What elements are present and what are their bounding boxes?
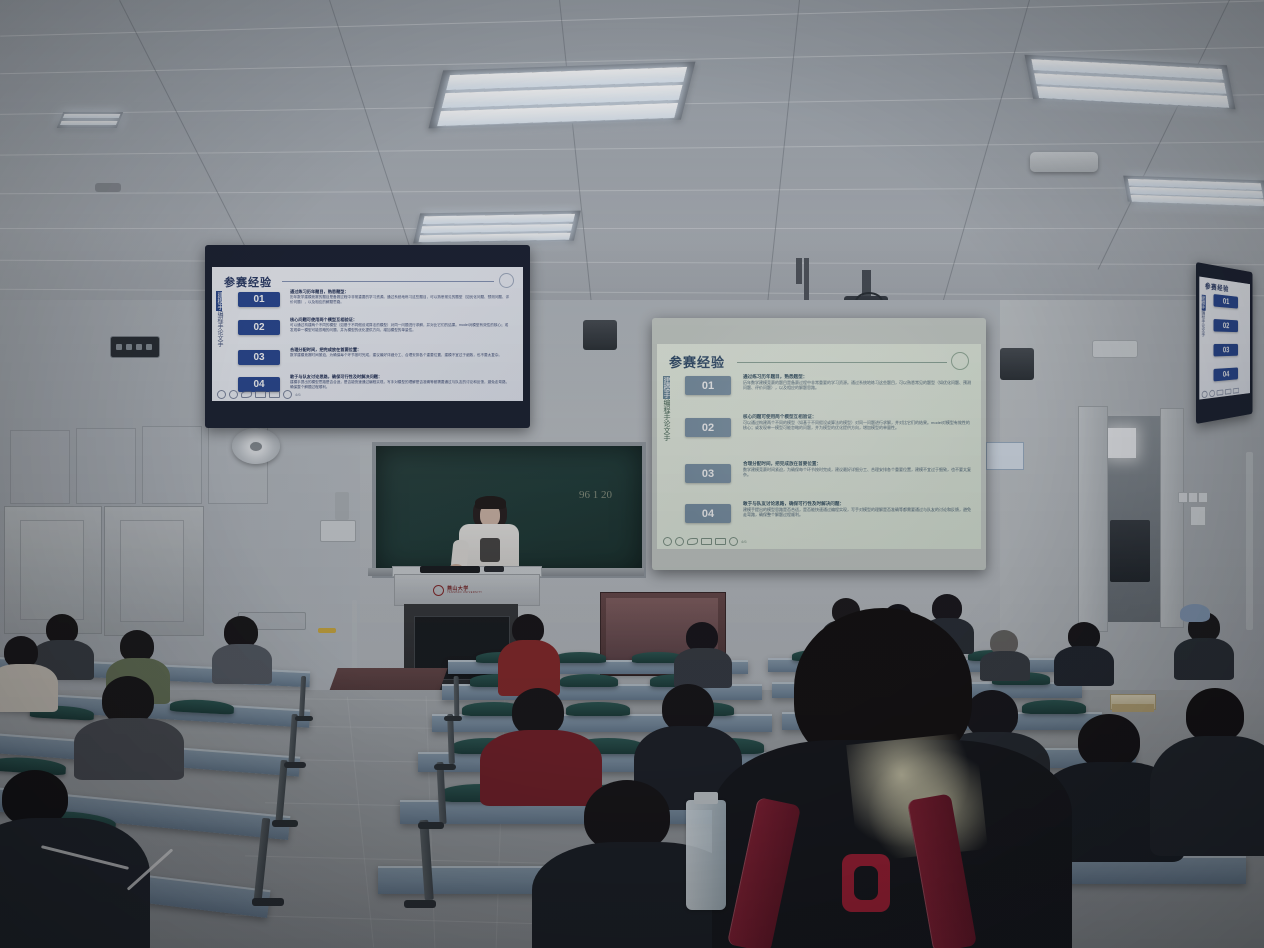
light-switch[interactable] (1198, 492, 1208, 503)
expand-icon[interactable] (701, 538, 712, 545)
pointer-icon[interactable] (1202, 391, 1208, 399)
student (676, 622, 728, 684)
slide-title: 参赛经验 (1205, 281, 1229, 294)
wall-panel (142, 426, 202, 504)
wall-poster (986, 442, 1024, 470)
slide-left: 参赛经验 建模手编程手论文手 01 通过练习历年题目，熟悉题型： 历年数学建模竞… (212, 267, 523, 401)
wall-panel (76, 428, 136, 504)
podium: 燕山大学 YANSHAN UNIVERSITY (394, 574, 540, 606)
ceiling-light-fixture (57, 112, 123, 128)
slide-item-body: 建模手提出的模型思路是否合适，是否能快速通过编程实现，写手对模型的理解是否准确等… (290, 380, 510, 390)
slide-sidebar-item-0: 建模手 (1202, 295, 1206, 311)
wall-mount (335, 492, 349, 520)
ceiling-grid-line (0, 228, 1264, 229)
slide-item-body: 可以通过构建两个不同的模型（如基于不同假设或算法的模型）对同一问题进行求解，并对… (743, 420, 971, 431)
seat (554, 652, 606, 663)
presenter-toolbar[interactable]: 4/6 (663, 537, 747, 546)
ceiling-light-fixture (1123, 176, 1264, 207)
university-crest-icon (951, 352, 969, 370)
wall-speaker (583, 320, 617, 350)
mouse[interactable] (484, 566, 504, 572)
slide-item-number: 02 (238, 320, 280, 335)
slide-title: 参赛经验 (224, 274, 272, 290)
ceiling-sensor (95, 183, 121, 192)
pen-circle-icon[interactable] (1209, 390, 1215, 398)
slide-item-number: 02 (1214, 319, 1239, 332)
podium-logo-text-en: YANSHAN UNIVERSITY (447, 592, 482, 595)
university-crest-icon (499, 273, 514, 288)
slide-sidebar: 建模手编程手论文手 (661, 376, 671, 524)
pen-icon[interactable] (1217, 390, 1224, 396)
wall-pipe (1246, 452, 1253, 630)
slide-item-number: 02 (685, 418, 731, 437)
slide-counter: 4/6 (295, 392, 301, 397)
slide-sidebar-item-1: 编程手 (1202, 310, 1206, 324)
wall-panel (10, 430, 70, 504)
light-switch[interactable] (1178, 492, 1188, 503)
lecture-hall-photo: 参赛经验 建模手编程手论文手 01 通过练习历年题目，熟悉题型： 历年数学建模竞… (0, 0, 1264, 948)
desk-foot (404, 900, 436, 908)
light-switch[interactable] (1188, 492, 1198, 503)
more-icon[interactable] (283, 390, 292, 399)
slide-sidebar: 建模手编程手论文手 (215, 291, 224, 391)
slide-item-body: 数学建模竞赛时间紧迫，为确保每个环节按时完成，建议最好详细分工、合理安排各个重要… (743, 467, 971, 478)
slide-item-number: 01 (1214, 294, 1239, 309)
slide-projected: 参赛经验 建模手编程手论文手 01 通过练习历年题目，熟悉题型： 历年数学建模竞… (657, 344, 981, 549)
presenter-toolbar[interactable]: 4/6 (217, 390, 301, 399)
presenter-toolbar[interactable] (1202, 387, 1239, 398)
pen-icon[interactable] (687, 538, 698, 545)
bright-window (1108, 428, 1136, 458)
student-foreground (0, 770, 130, 948)
pen-circle-icon[interactable] (229, 390, 238, 399)
slide-item-body: 建模手提出的模型思路是否合适，是否能快速通过编程实现，写手对模型的理解是否准确等… (743, 507, 971, 518)
slide-sidebar-item-1: 编程手 (663, 399, 670, 420)
presenter-hair-front (475, 496, 506, 509)
slide-sidebar-item-2: 论文手 (216, 329, 222, 347)
slide-item-number: 03 (1214, 344, 1239, 357)
desk-foot (444, 716, 462, 721)
slide-sidebar-item-1: 编程手 (216, 311, 222, 329)
expand-icon[interactable] (255, 391, 266, 398)
slide-right: 参赛经验 建模手编程手论文手 01 02 03 04 (1199, 276, 1250, 399)
slide-sidebar: 建模手编程手论文手 (1201, 295, 1206, 380)
slide-sidebar-item-0: 建模手 (663, 376, 670, 399)
slide-item-body: 数学建模竞赛时间紧迫，为确保每个环节按时完成，建议最好详细分工、合理安排各个重要… (290, 353, 510, 358)
student-foreground (80, 676, 176, 772)
student (1160, 688, 1264, 848)
wall-speaker (1000, 348, 1034, 380)
desk-foot (284, 762, 306, 768)
university-seal-icon (433, 585, 444, 596)
wall-outlet[interactable] (1190, 506, 1206, 526)
ceiling-light-fixture (429, 62, 696, 129)
pen-circle-icon[interactable] (675, 537, 684, 546)
expand-icon[interactable] (1225, 389, 1231, 395)
pointer-icon[interactable] (217, 390, 226, 399)
slides-icon[interactable] (715, 538, 726, 545)
slide-item-body: 历年数学建模竞赛的题目是备赛过程中非常重要的学习资源。通过系统地练习这些题目，可… (290, 295, 510, 305)
slide-item-number: 01 (238, 292, 280, 307)
keyboard[interactable] (420, 566, 480, 573)
desk-foot (295, 716, 313, 721)
student (0, 636, 54, 708)
wall-conduit (352, 600, 357, 678)
slide-item-number: 03 (685, 464, 731, 483)
slide-item-body: 可以通过构建两个不同的模型（如基于不同假设或算法的模型）对同一问题进行求解，并对… (290, 323, 510, 333)
slide-item-number: 04 (1214, 367, 1239, 381)
desk-foot (252, 898, 284, 906)
warning-label (318, 628, 336, 633)
desk-foot (272, 820, 298, 827)
slide-counter: 4/6 (741, 539, 747, 544)
desk-leg (454, 676, 460, 718)
student (1058, 622, 1110, 684)
notebook-edge (1112, 704, 1154, 712)
slide-item-number: 01 (685, 376, 731, 395)
student-cap (1176, 604, 1216, 630)
projection-screen-frame: 参赛经验 建模手编程手论文手 01 通过练习历年题目，熟悉题型： 历年数学建模竞… (652, 318, 986, 570)
slide-sidebar-item-0: 建模手 (216, 291, 222, 311)
slide-item-body: 历年数学建模竞赛的题目是备赛过程中非常重要的学习资源。通过系统地练习这些题目，可… (743, 380, 971, 391)
smoke-detector (1030, 152, 1098, 172)
podium-logo: 燕山大学 YANSHAN UNIVERSITY (433, 585, 482, 596)
right-wall-tv: 参赛经验 建模手编程手论文手 01 02 03 04 (1196, 262, 1252, 424)
door-panel[interactable] (1160, 408, 1184, 628)
slides-icon[interactable] (269, 391, 280, 398)
desk-foot (434, 764, 456, 770)
slides-icon[interactable] (1233, 388, 1239, 394)
shirt-graphic (480, 538, 500, 562)
chalk-writing: 96 1 20 (579, 490, 612, 502)
slide-sidebar-item-2: 论文手 (663, 420, 670, 441)
door-frame (1078, 406, 1108, 632)
ceiling-light-fixture (413, 211, 581, 244)
projector-mount-pole (796, 258, 802, 284)
cabinet-panel (20, 520, 84, 620)
cabinet-panel (120, 520, 184, 622)
slide-item-number: 04 (685, 504, 731, 523)
desk-foot (418, 822, 444, 829)
wall-control-panel-right[interactable] (1092, 340, 1138, 358)
wall-box (320, 520, 356, 542)
slide-title: 参赛经验 (669, 352, 725, 371)
student (212, 616, 268, 680)
wall-control-panel[interactable] (110, 336, 160, 358)
slide-item-number: 03 (238, 350, 280, 365)
student (500, 614, 556, 694)
slide-sidebar-item-2: 论文手 (1202, 323, 1206, 336)
equipment-cabinet (1110, 520, 1150, 582)
seat (560, 674, 618, 687)
more-icon[interactable] (729, 537, 738, 546)
bottle-cap (694, 792, 718, 804)
pointer-icon[interactable] (663, 537, 672, 546)
backpack-loop-hole (854, 866, 878, 900)
water-bottle[interactable] (686, 800, 726, 910)
left-wall-tv: 参赛经验 建模手编程手论文手 01 通过练习历年题目，熟悉题型： 历年数学建模竞… (205, 245, 530, 428)
pen-icon[interactable] (241, 391, 252, 398)
